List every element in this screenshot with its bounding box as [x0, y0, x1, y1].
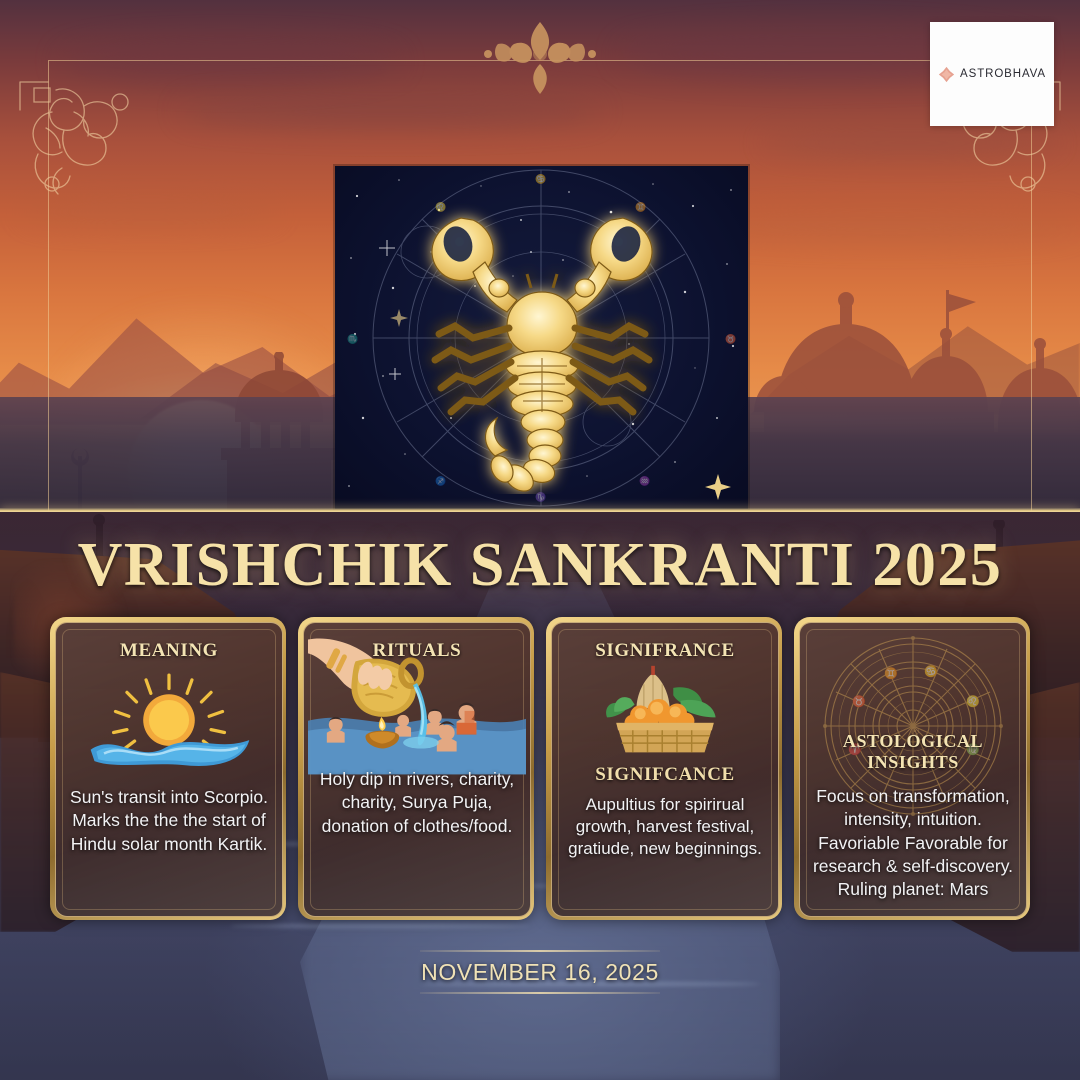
brand-name: ASTROBHAVA: [960, 68, 1046, 80]
card-title: MEANING: [62, 640, 276, 662]
card-astrological-insights[interactable]: ♊♋ ♉♌ ♈♍ ☉ ASTOLOGICAL INSIGHTS Focus on…: [794, 617, 1030, 920]
page-title: VRISHCHIK SANKRANTI 2025: [0, 534, 1080, 596]
cloud-shape: [700, 210, 1080, 240]
card-body-text: Sun's transit into Scorpio. Marks the th…: [56, 782, 282, 856]
card-title: SIGNIFRANCE: [558, 640, 772, 662]
cloud-shape: [20, 200, 280, 224]
card-body-text: Focus on transformation, intensity, intu…: [800, 773, 1026, 901]
card-title: RITUALS: [310, 640, 524, 662]
svg-text:♉: ♉: [725, 333, 736, 344]
svg-text:♉: ♉: [852, 695, 866, 708]
card-inner: RITUALS: [303, 622, 531, 917]
card-meaning[interactable]: MEANING: [50, 617, 286, 920]
poster-canvas: ♏♉ ♋♑ ♌♊ ♐♒: [0, 0, 1080, 1080]
floral-mandala-corner-icon: [16, 68, 146, 198]
card-illustration: [552, 662, 778, 758]
brand-logo[interactable]: ASTROBHAVA: [930, 22, 1054, 126]
svg-text:♏: ♏: [347, 333, 358, 344]
card-title: ASTOLOGICAL INSIGHTS: [806, 731, 1020, 773]
diamond-mandala-icon: [938, 66, 955, 83]
card-significance[interactable]: SIGNIFRANCE: [546, 617, 782, 920]
svg-text:♊: ♊: [884, 667, 898, 680]
card-inner: ♊♋ ♉♌ ♈♍ ☉ ASTOLOGICAL INSIGHTS Focus on…: [799, 622, 1027, 917]
card-illustration: [56, 662, 282, 782]
scorpion-icon: [399, 188, 685, 494]
scorpio-hero-image: ♏♉ ♋♑ ♌♊ ♐♒: [335, 166, 748, 509]
harvest-basket-icon: [596, 663, 734, 757]
divider-rule: [420, 992, 660, 994]
card-inner: MEANING: [55, 622, 283, 917]
lotus-diamond-ornament-icon: [470, 14, 610, 102]
svg-text:♋: ♋: [924, 665, 938, 678]
water-ripple: [230, 924, 530, 928]
svg-text:♋: ♋: [535, 173, 546, 184]
event-date: NOVEMBER 16, 2025: [0, 952, 1080, 992]
svg-text:♌: ♌: [966, 695, 980, 708]
card-subtitle: SIGNIFCANCE: [552, 764, 778, 786]
card-rituals[interactable]: RITUALS: [298, 617, 534, 920]
date-footer: NOVEMBER 16, 2025: [0, 950, 1080, 994]
sun-over-water-icon: [83, 668, 255, 776]
card-inner: SIGNIFRANCE: [551, 622, 779, 917]
card-body-text: Holy dip in rivers, charity, charity, Su…: [304, 764, 530, 838]
card-body-text: Aupultius for spirirual growth, harvest …: [552, 786, 778, 860]
info-cards-row: MEANING: [50, 617, 1030, 920]
